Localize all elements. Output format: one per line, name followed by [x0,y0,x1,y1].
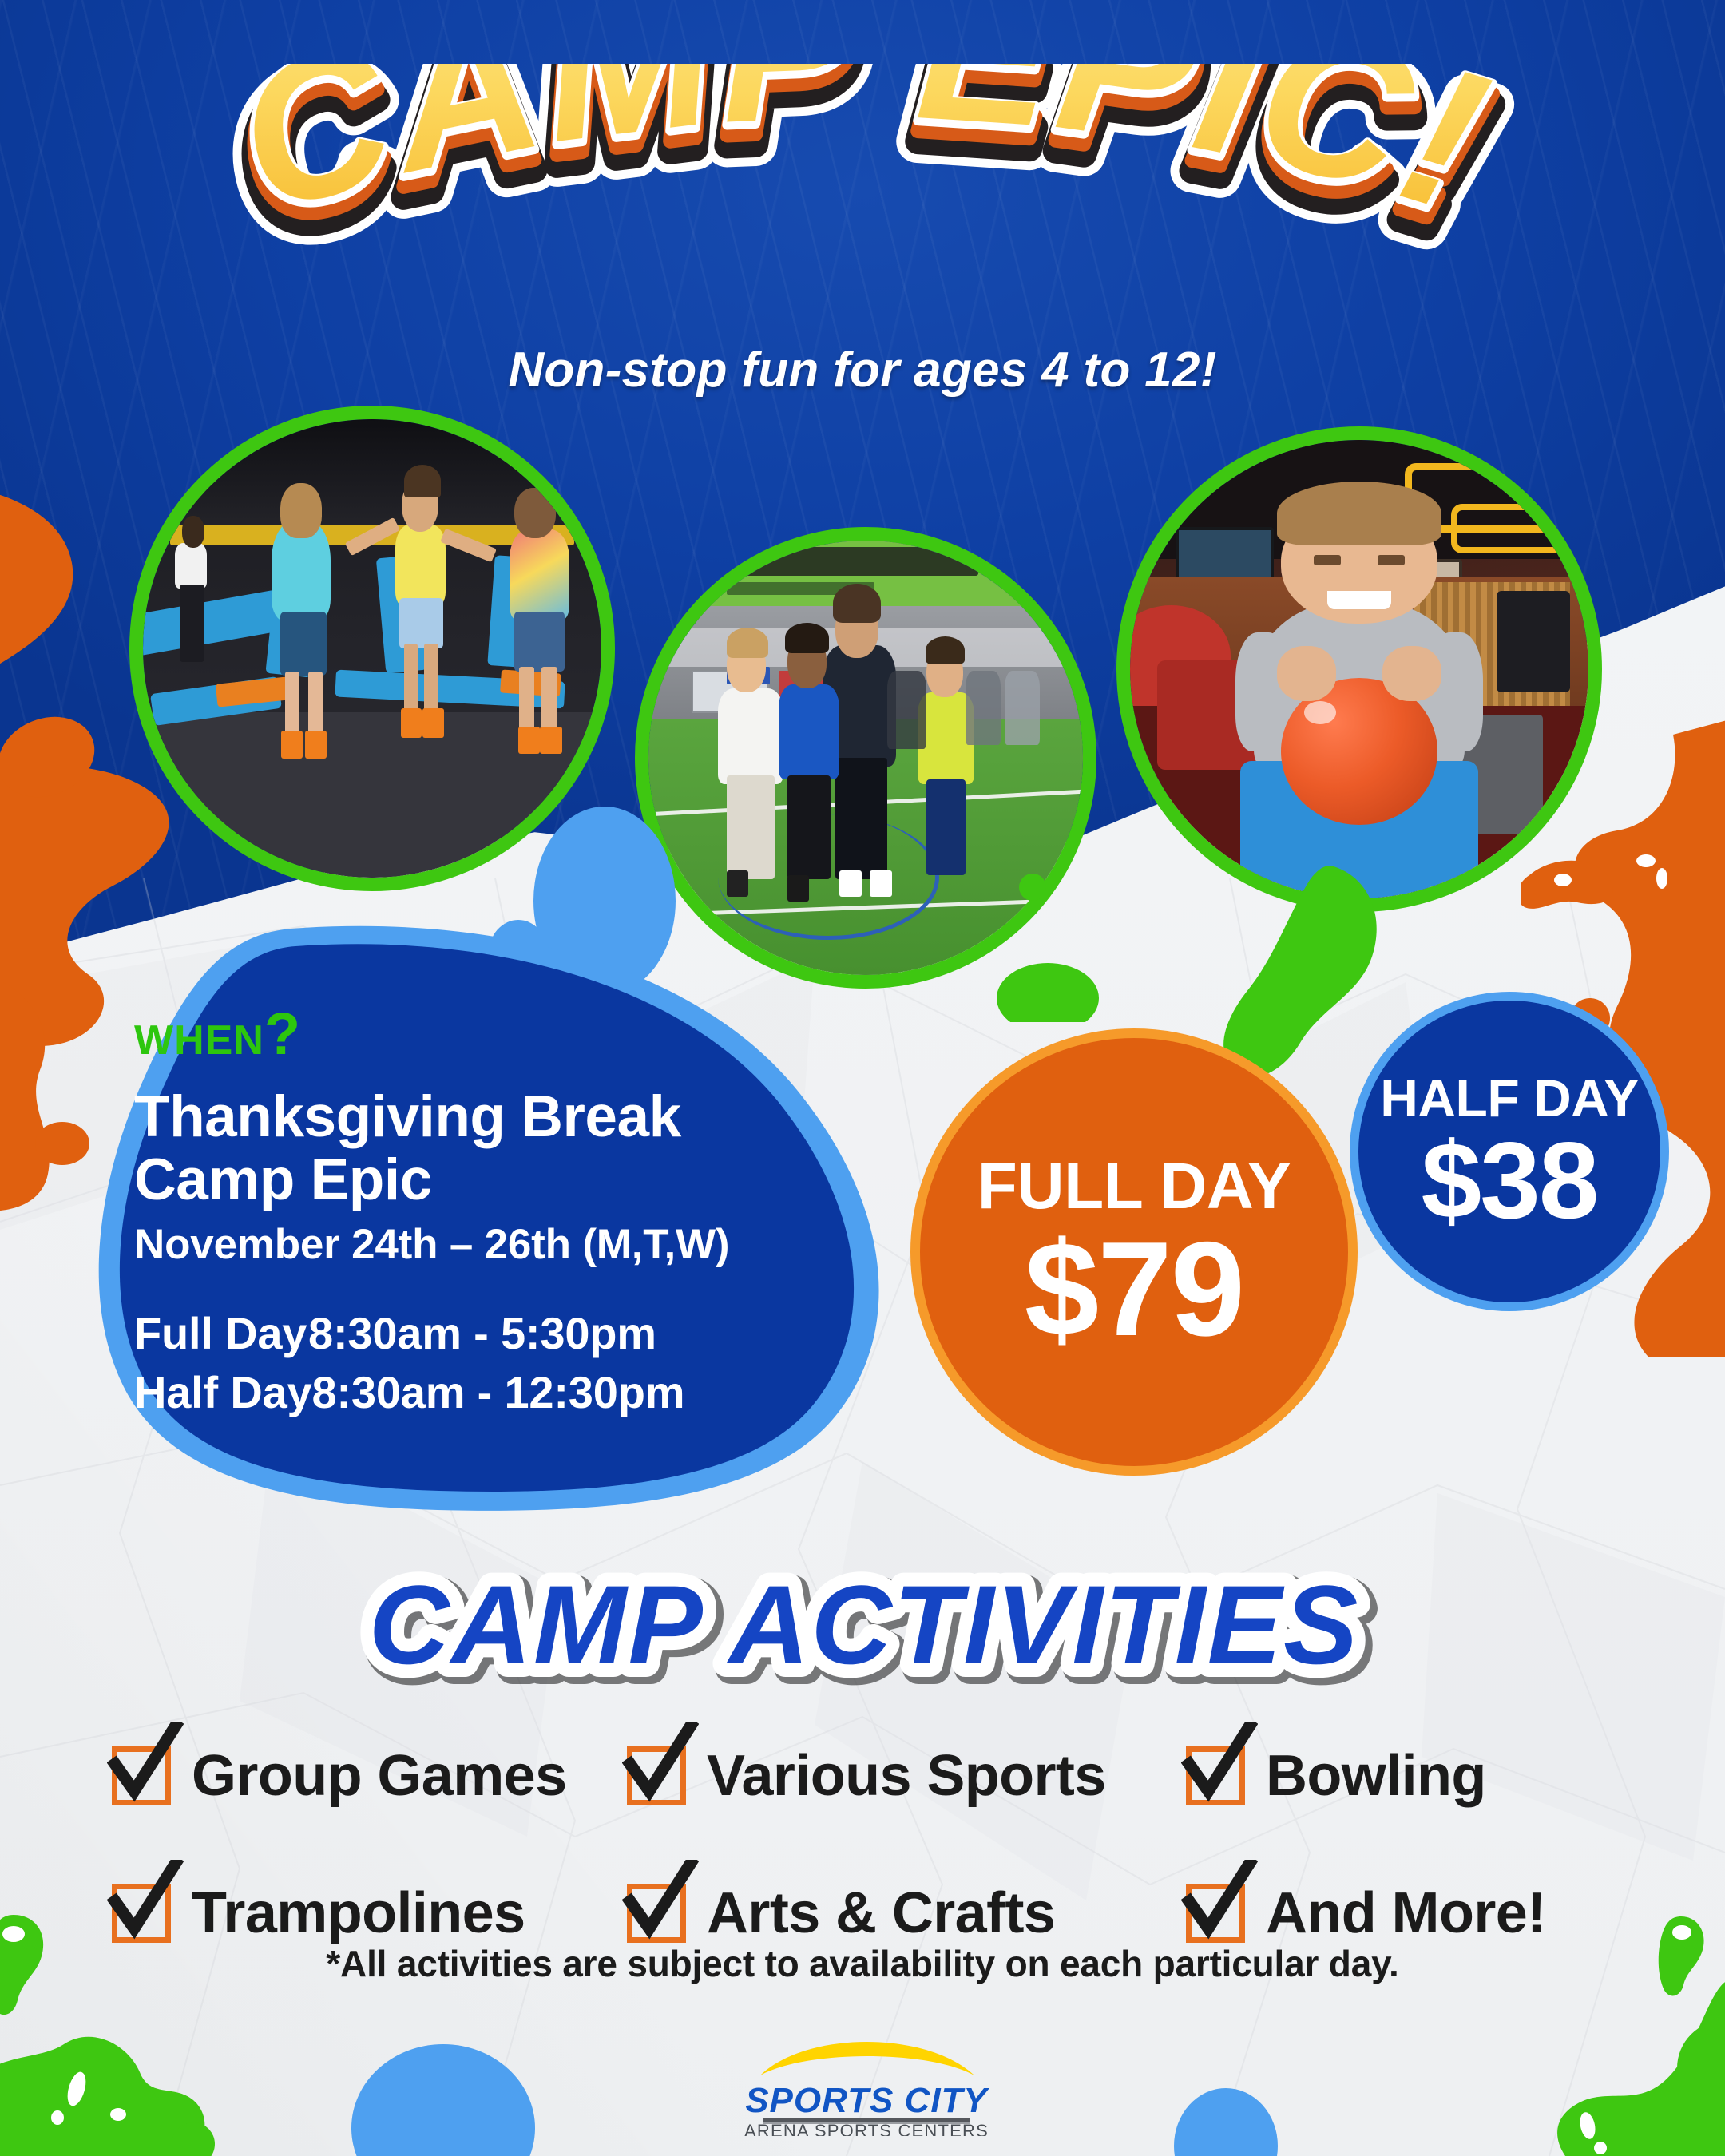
when-title-line1: Thanksgiving Break [134,1086,789,1149]
full-day-label: FULL DAY [978,1154,1291,1219]
when-text-block: When? Thanksgiving Break Camp Epic Novem… [134,1005,789,1421]
checkbox-arts-crafts[interactable] [627,1884,686,1943]
full-day-value: $79 [1025,1227,1243,1351]
title-block: CAMP EPIC! CAMP EPIC! CAMP EPIC! CAMP EP… [0,64,1725,303]
trampoline-photo [129,406,615,891]
hour-label-half: Half Day [134,1363,311,1422]
checkbox-and-more[interactable] [1186,1884,1245,1943]
activity-label: Trampolines [192,1881,525,1946]
half-day-price-badge: HALF DAY $38 [1350,992,1669,1311]
activity-item[interactable]: Various Sports [627,1726,1186,1825]
activity-label: Arts & Crafts [707,1881,1055,1946]
check-icon [1181,1722,1258,1812]
half-day-value: $38 [1422,1131,1598,1231]
activity-label: Bowling [1266,1743,1486,1809]
sports-photo [635,527,1096,989]
check-icon [622,1722,699,1812]
logo-tagline: ARENA SPORTS CENTERS [744,2121,989,2136]
check-icon [1181,1860,1258,1949]
logo-wordmark: SPORTS CITY [745,2081,989,2120]
activity-item[interactable]: Group Games [112,1726,627,1825]
when-label: When? [134,1005,789,1064]
checkbox-trampolines[interactable] [112,1884,171,1943]
check-icon [107,1722,184,1812]
checkbox-group-games[interactable] [112,1746,171,1805]
sports-city-logo: SPORTS CITY ARENA SPORTS CENTERS [743,2032,990,2140]
activity-label: Group Games [192,1743,567,1809]
activities-heading-block: CAMP ACTIVITIES CAMP ACTIVITIES CAMP ACT… [0,1561,1725,1709]
hour-time-half: 8:30am - 12:30pm [311,1367,684,1417]
check-icon [107,1860,184,1949]
checkbox-various-sports[interactable] [627,1746,686,1805]
camp-epic-title: CAMP EPIC! CAMP EPIC! CAMP EPIC! CAMP EP… [136,64,1589,303]
checkbox-bowling[interactable] [1186,1746,1245,1805]
when-title-line2: Camp Epic [134,1149,789,1212]
check-icon [622,1860,699,1949]
activity-item[interactable]: Bowling [1186,1726,1629,1825]
full-day-price-badge: FULL DAY $79 [910,1028,1358,1476]
activities-list: Group Games Various Sports Bowling [112,1726,1629,1963]
subtitle: Non-stop fun for ages 4 to 12! [0,342,1725,398]
activities-heading-fill: CAMP ACTIVITIES [369,1562,1360,1687]
swoosh-icon [760,2042,974,2075]
logo-graphic: SPORTS CITY ARENA SPORTS CENTERS [743,2032,990,2136]
activity-label: And More! [1266,1881,1546,1946]
half-day-label: HALF DAY [1380,1072,1639,1124]
bowling-photo [1116,426,1602,912]
hour-row-half: Half Day8:30am - 12:30pm [134,1363,789,1422]
activity-label: Various Sports [707,1743,1106,1809]
when-dates: November 24th – 26th (M,T,W) [134,1220,789,1269]
availability-disclaimer: *All activities are subject to availabil… [0,1942,1725,1985]
hour-row-full: Full Day8:30am - 5:30pm [134,1304,789,1363]
when-hours-list: Full Day8:30am - 5:30pm Half Day8:30am -… [134,1304,789,1422]
hour-time-full: 8:30am - 5:30pm [308,1308,656,1358]
flyer-canvas: CAMP EPIC! CAMP EPIC! CAMP EPIC! CAMP EP… [0,0,1725,2156]
camp-activities-heading: CAMP ACTIVITIES CAMP ACTIVITIES CAMP ACT… [280,1561,1445,1705]
hour-label-full: Full Day [134,1304,308,1363]
